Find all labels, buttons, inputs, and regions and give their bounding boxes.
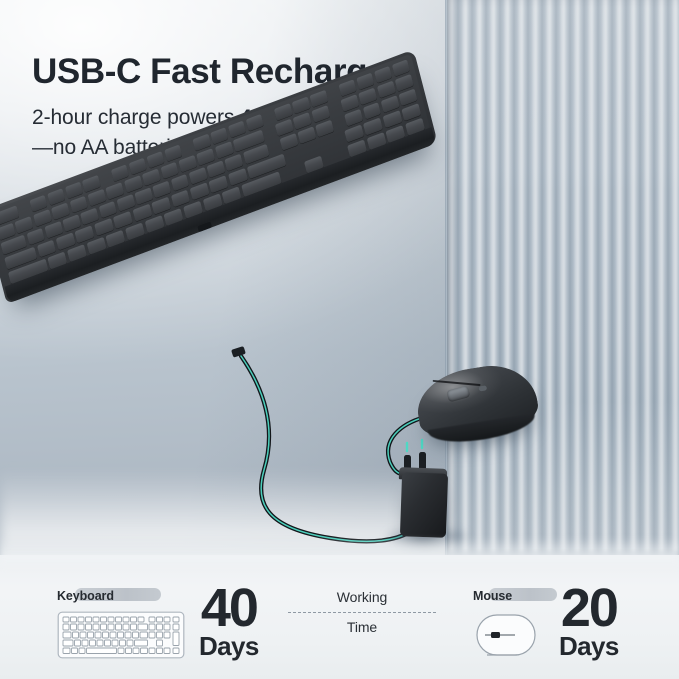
stat-mouse: Mouse 20 Days xyxy=(473,581,619,659)
mouse-label-wrap: Mouse xyxy=(473,587,516,605)
mouse-device-label: Mouse xyxy=(473,589,512,603)
product-banner: USB-C Fast Recharge 2-hour charge powers… xyxy=(0,0,679,679)
mouse-device-column: Mouse xyxy=(473,587,545,659)
working-time-line1: Working xyxy=(288,586,436,609)
mouse-days-unit: Days xyxy=(559,633,619,659)
keyboard-battery-life: 40 Days xyxy=(199,581,259,659)
keyboard-label-wrap: Keyboard xyxy=(57,587,118,605)
dashed-divider xyxy=(288,612,436,613)
mouse-battery-life: 20 Days xyxy=(559,581,619,659)
stat-keyboard: Keyboard xyxy=(57,581,259,659)
working-time-line2: Time xyxy=(288,616,436,639)
mouse-days-value: 20 xyxy=(559,581,619,635)
charging-adapter xyxy=(400,472,448,538)
keyboard-device-column: Keyboard xyxy=(57,587,185,659)
working-time-divider: Working Time xyxy=(288,586,436,639)
keyboard-icon xyxy=(57,611,185,659)
fluted-panel xyxy=(447,0,679,556)
stats-bar: Keyboard xyxy=(0,555,679,679)
keyboard-device-label: Keyboard xyxy=(57,589,114,603)
mouse-icon xyxy=(473,611,545,659)
keyboard-days-value: 40 xyxy=(199,581,259,635)
keyboard-days-unit: Days xyxy=(199,633,259,659)
